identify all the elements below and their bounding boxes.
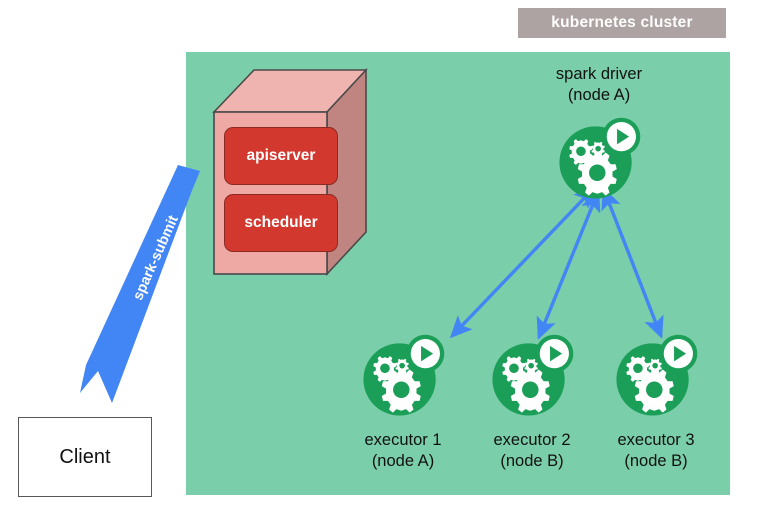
executor-3-node[interactable] bbox=[613, 333, 699, 419]
executor-2-node-id: (node B) bbox=[462, 451, 602, 472]
scheduler-component[interactable]: scheduler bbox=[224, 194, 338, 252]
executor-3-node-id: (node B) bbox=[586, 451, 726, 472]
diagram-canvas: kubernetes cluster Client spark-submit a… bbox=[0, 0, 761, 516]
scheduler-label: scheduler bbox=[244, 214, 317, 232]
executor-2-caption: executor 2 (node B) bbox=[462, 430, 602, 472]
spark-driver-caption: spark driver (node A) bbox=[529, 64, 669, 106]
gears-play-icon bbox=[556, 116, 642, 202]
spark-driver-node-id: (node A) bbox=[529, 85, 669, 106]
client-box[interactable]: Client bbox=[18, 417, 152, 497]
spark-submit-label: spark-submit bbox=[122, 199, 189, 317]
apiserver-component[interactable]: apiserver bbox=[224, 127, 338, 185]
executor-1-node-id: (node A) bbox=[333, 451, 473, 472]
apiserver-label: apiserver bbox=[247, 147, 316, 165]
executor-1-caption: executor 1 (node A) bbox=[333, 430, 473, 472]
gears-play-icon bbox=[613, 333, 699, 419]
executor-3-caption: executor 3 (node B) bbox=[586, 430, 726, 472]
spark-driver-node[interactable] bbox=[556, 116, 642, 202]
gears-play-icon bbox=[360, 333, 446, 419]
gears-play-icon bbox=[489, 333, 575, 419]
executor-2-node[interactable] bbox=[489, 333, 575, 419]
executor-1-node[interactable] bbox=[360, 333, 446, 419]
executor-1-name: executor 1 bbox=[333, 430, 473, 451]
kubernetes-cluster-badge: kubernetes cluster bbox=[518, 8, 726, 38]
executor-3-name: executor 3 bbox=[586, 430, 726, 451]
client-label: Client bbox=[59, 446, 110, 469]
executor-2-name: executor 2 bbox=[462, 430, 602, 451]
control-plane-cube[interactable]: apiserver scheduler bbox=[210, 66, 370, 276]
spark-driver-name: spark driver bbox=[529, 64, 669, 85]
